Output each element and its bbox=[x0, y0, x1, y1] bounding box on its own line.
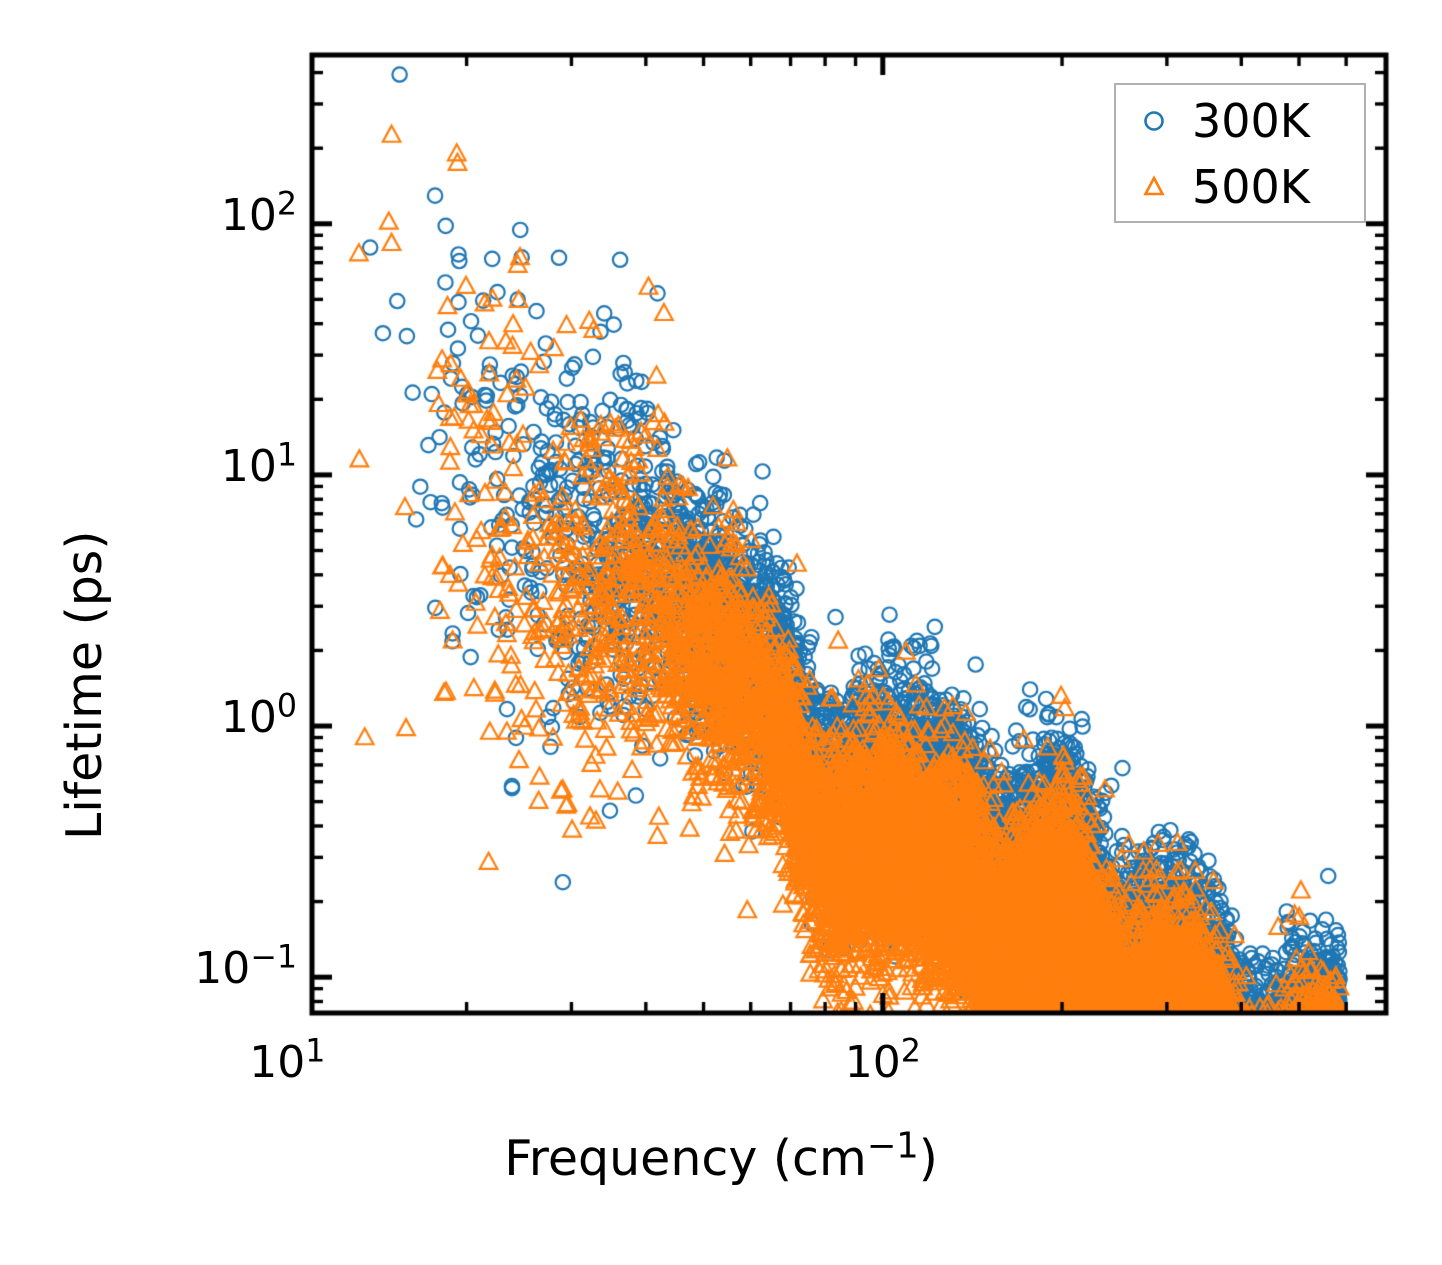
y-axis-title: Lifetime (ps) bbox=[60, 531, 109, 840]
y-tick-label-1: 100 bbox=[137, 696, 297, 740]
legend-entry-500K[interactable]: 500K bbox=[1116, 155, 1364, 219]
x-axis-title-tail: ) bbox=[919, 1130, 938, 1187]
legend-entry-300K[interactable]: 300K bbox=[1116, 89, 1364, 153]
x-axis-title-exponent: −1 bbox=[867, 1126, 919, 1167]
y-tick-label-0.1: 10−1 bbox=[137, 947, 297, 991]
x-tick-label-10: 101 bbox=[187, 1041, 387, 1085]
legend-label-300K: 300K bbox=[1192, 98, 1310, 144]
x-tick-label-100: 102 bbox=[783, 1041, 983, 1085]
legend-box[interactable]: 300K 500K bbox=[1114, 83, 1366, 223]
x-axis-title: Frequency (cm−1) bbox=[0, 1134, 1442, 1183]
legend-label-500K: 500K bbox=[1192, 164, 1310, 210]
figure-container: 102 101 100 10−1 101 102 Frequency (cm−1… bbox=[0, 0, 1442, 1265]
legend-circle-marker-icon bbox=[1116, 106, 1192, 136]
y-tick-label-100: 102 bbox=[137, 194, 297, 238]
y-tick-label-10: 101 bbox=[137, 445, 297, 489]
x-axis-title-base: Frequency (cm bbox=[504, 1130, 867, 1187]
legend-triangle-marker-icon bbox=[1116, 172, 1192, 202]
